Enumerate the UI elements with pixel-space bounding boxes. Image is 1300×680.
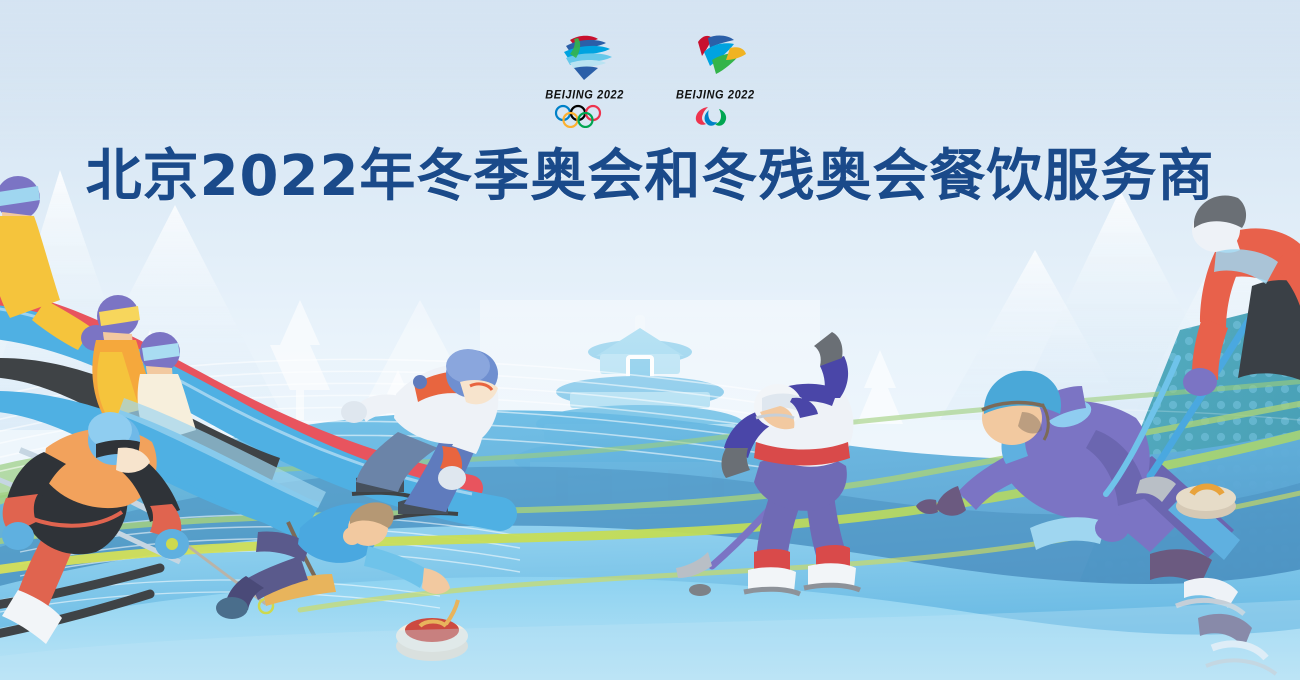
winter-dream-emblem-icon xyxy=(548,30,622,86)
beijing-2022-olympic-emblem: BEIJING 2022 xyxy=(545,30,624,128)
emblem-row: BEIJING 2022 BEIJING 2022 xyxy=(0,30,1300,128)
beijing-2022-paralympic-emblem: BEIJING 2022 xyxy=(676,30,755,128)
olympic-rings-icon xyxy=(548,104,622,128)
beijing-2022-catering-banner: BEIJING 2022 BEIJING 2022 xyxy=(0,0,1300,680)
olympic-wordmark: BEIJING 2022 xyxy=(545,88,624,101)
agitos-icon xyxy=(678,104,752,128)
paralympic-wordmark: BEIJING 2022 xyxy=(676,88,755,101)
page-title: 北京2022年冬季奥会和冬残奥会餐饮服务商 xyxy=(0,146,1300,208)
flying-high-emblem-icon xyxy=(678,30,752,86)
